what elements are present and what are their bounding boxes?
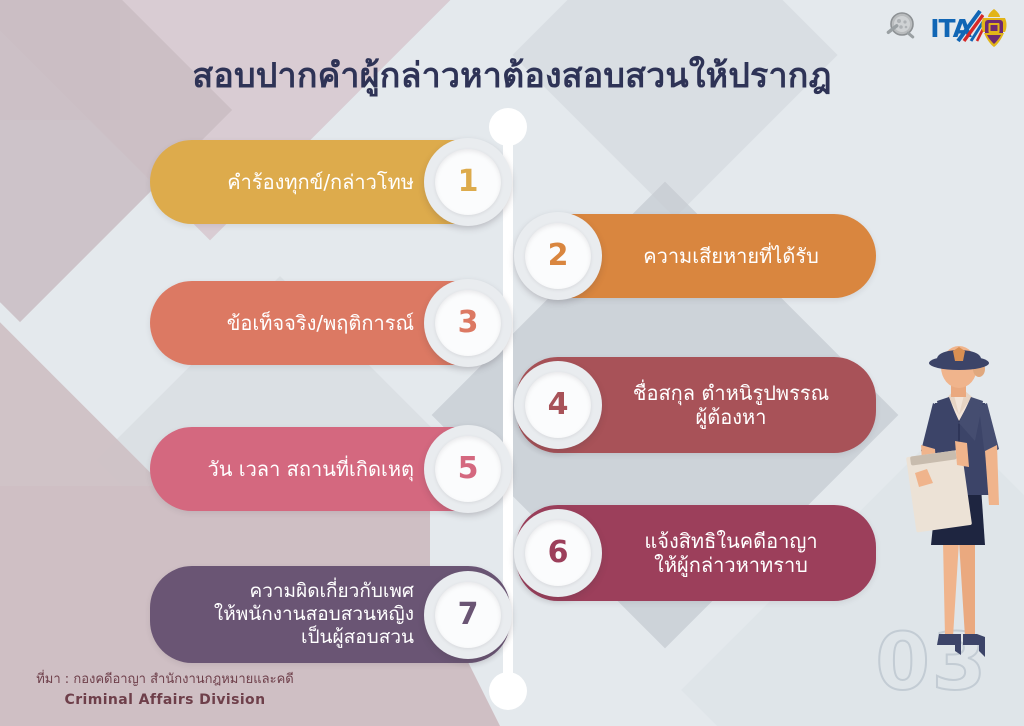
female-police-officer-illustration xyxy=(893,345,1021,680)
step-badge-2: 2 xyxy=(514,212,602,300)
step-item-4[interactable]: ชื่อสกุล ตำหนิรูปพรรณ ผู้ต้องหา 4 xyxy=(516,357,876,453)
step-item-5[interactable]: วัน เวลา สถานที่เกิดเหตุ 5 xyxy=(150,427,510,511)
step-label-2: ความเสียหายที่ได้รับ xyxy=(612,244,850,268)
step-item-7[interactable]: ความผิดเกี่ยวกับเพศ ให้พนักงานสอบสวนหญิง… xyxy=(150,566,510,663)
step-number-2: 2 xyxy=(548,241,569,271)
infographic-canvas: ITA สอบปากคำผู้กล่าวหาต xyxy=(0,0,1024,726)
step-item-1[interactable]: คำร้องทุกข์/กล่าวโทษ 1 xyxy=(150,140,510,224)
step-number-7: 7 xyxy=(458,600,479,630)
page-title: สอบปากคำผู้กล่าวหาต้องสอบสวนให้ปรากฎ xyxy=(0,48,1024,102)
step-badge-1: 1 xyxy=(424,138,512,226)
step-badge-6: 6 xyxy=(514,509,602,597)
background-diamond-5 xyxy=(512,0,837,218)
step-label-1: คำร้องทุกข์/กล่าวโทษ xyxy=(176,170,414,194)
step-badge-3: 3 xyxy=(424,279,512,367)
thai-government-emblem-icon xyxy=(978,8,1010,48)
step-number-5: 5 xyxy=(458,454,479,484)
step-label-4: ชื่อสกุล ตำหนิรูปพรรณ ผู้ต้องหา xyxy=(612,381,850,430)
timeline-start-dot xyxy=(489,108,527,146)
logo-group: ITA xyxy=(883,8,1010,48)
step-label-6: แจ้งสิทธิในคดีอาญา ให้ผู้กล่าวหาทราบ xyxy=(612,529,850,578)
step-number-6: 6 xyxy=(548,538,569,568)
magnifying-glass-icon xyxy=(883,8,923,48)
step-badge-4: 4 xyxy=(514,361,602,449)
step-number-4: 4 xyxy=(548,390,569,420)
step-item-2[interactable]: ความเสียหายที่ได้รับ 2 xyxy=(516,214,876,298)
step-badge-7: 7 xyxy=(424,571,512,659)
step-label-5: วัน เวลา สถานที่เกิดเหตุ xyxy=(176,457,414,481)
footer-source-thai: ที่มา : กองคดีอาญา สำนักงานกฎหมายและคดี xyxy=(0,671,330,690)
step-number-3: 3 xyxy=(458,308,479,338)
step-badge-5: 5 xyxy=(424,425,512,513)
footer-source-english: Criminal Affairs Division xyxy=(0,690,330,710)
step-item-3[interactable]: ข้อเท็จจริง/พฤติการณ์ 3 xyxy=(150,281,510,365)
step-label-7: ความผิดเกี่ยวกับเพศ ให้พนักงานสอบสวนหญิง… xyxy=(176,580,414,650)
step-item-6[interactable]: แจ้งสิทธิในคดีอาญา ให้ผู้กล่าวหาทราบ 6 xyxy=(516,505,876,601)
footer: ที่มา : กองคดีอาญา สำนักงานกฎหมายและคดี … xyxy=(0,671,330,710)
ita-logo: ITA xyxy=(930,14,971,43)
step-label-3: ข้อเท็จจริง/พฤติการณ์ xyxy=(176,311,414,335)
step-number-1: 1 xyxy=(458,167,479,197)
timeline-end-dot xyxy=(489,672,527,710)
